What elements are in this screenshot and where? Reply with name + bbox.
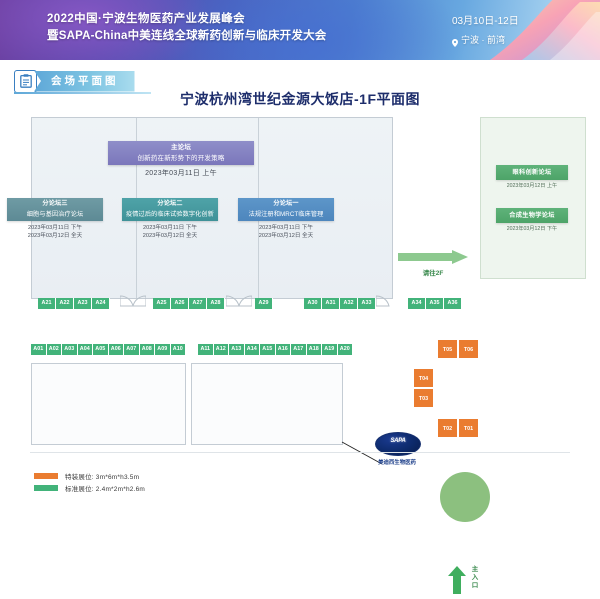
arrow-up-icon — [448, 566, 466, 594]
floorplan-canvas: 主论坛 创新药在新形势下的开发策略 2023年03月11日 上午 分论坛三 细胞… — [0, 110, 600, 505]
booth-A02[interactable]: A02 — [47, 344, 63, 355]
entrance-label: 主入口 — [470, 566, 480, 590]
booth-A19[interactable]: A19 — [322, 344, 338, 355]
booth-A24[interactable]: A24 — [92, 298, 110, 309]
sub-forum-2-subtitle: 疫情过后的临床试验数字化创新 — [122, 210, 218, 221]
conference-title-line1: 2022中国·宁波生物医药产业发展峰会 — [47, 11, 326, 28]
booth-A10[interactable]: A10 — [171, 344, 187, 355]
sub-forum-1-bar: 分论坛一 法规注册和MRCT临床管理 — [238, 198, 334, 221]
exhibitor-logo-caption: 美迪西生物医药 — [364, 458, 430, 466]
sub-forum-3-date2: 2023年03月12日 全天 — [7, 232, 103, 240]
booth-A34[interactable]: A34 — [408, 298, 426, 309]
lower-hall-left — [31, 363, 186, 445]
booth-A25[interactable]: A25 — [153, 298, 171, 309]
sub-forum-2-dates: 2023年03月11日 下午 2023年03月12日 全天 — [122, 224, 218, 240]
booth-A28[interactable]: A28 — [207, 298, 225, 309]
booth-A22[interactable]: A22 — [56, 298, 74, 309]
conference-location: 宁波 · 前湾 — [452, 31, 519, 50]
central-round-area — [440, 472, 490, 522]
sub-forum-3-title: 分论坛三 — [7, 199, 103, 210]
booth-A26[interactable]: A26 — [171, 298, 189, 309]
booth-A01[interactable]: A01 — [31, 344, 47, 355]
map-pin-icon — [452, 35, 458, 43]
booth-A14[interactable]: A14 — [245, 344, 261, 355]
legend-swatch-special — [34, 473, 58, 479]
booth-A29[interactable]: A29 — [255, 298, 273, 309]
legend-swatch-standard — [34, 485, 58, 491]
green-forum-2-title: 合成生物学论坛 — [496, 208, 568, 223]
lower-hall-right — [191, 363, 343, 445]
booth-A21[interactable]: A21 — [38, 298, 56, 309]
sub-forum-3-dates: 2023年03月11日 下午 2023年03月12日 全天 — [7, 224, 103, 240]
sub-forum-3-subtitle: 细胞与基因治疗论坛 — [7, 210, 103, 221]
conference-meta: 03月10日-12日 宁波 · 前湾 — [452, 12, 519, 50]
exhibitor-logo-text: SAPA — [376, 438, 420, 444]
sub-forum-1[interactable]: 分论坛一 法规注册和MRCT临床管理 2023年03月11日 下午 2023年0… — [238, 198, 334, 240]
sub-forum-2-title: 分论坛二 — [122, 199, 218, 210]
booth-A12[interactable]: A12 — [214, 344, 230, 355]
sub-forum-2-date1: 2023年03月11日 下午 — [122, 224, 218, 232]
sub-forum-2-bar: 分论坛二 疫情过后的临床试验数字化创新 — [122, 198, 218, 221]
sub-forum-2[interactable]: 分论坛二 疫情过后的临床试验数字化创新 2023年03月11日 下午 2023年… — [122, 198, 218, 240]
booth-A27[interactable]: A27 — [189, 298, 207, 309]
sub-forum-3-bar: 分论坛三 细胞与基因治疗论坛 — [7, 198, 103, 221]
booth-A20[interactable]: A20 — [338, 344, 354, 355]
legend: 特装展位: 3m*6m*h3.5m 标准展位: 2.4m*2m*h2.6m — [34, 470, 145, 494]
booth-A23[interactable]: A23 — [74, 298, 92, 309]
header-banner: 2022中国·宁波生物医药产业发展峰会 暨SAPA-China中美连线全球新药创… — [0, 0, 600, 60]
booth-A13[interactable]: A13 — [229, 344, 245, 355]
main-forum-date: 2023年03月11日 上午 — [108, 168, 254, 178]
sub-forum-1-subtitle: 法规注册和MRCT临床管理 — [238, 210, 334, 221]
arrow-right-icon — [398, 250, 468, 264]
conference-title: 2022中国·宁波生物医药产业发展峰会 暨SAPA-China中美连线全球新药创… — [47, 11, 326, 45]
booth-A32[interactable]: A32 — [340, 298, 358, 309]
green-forum-1-title: 眼科创新论坛 — [496, 165, 568, 180]
booth-A03[interactable]: A03 — [62, 344, 78, 355]
conference-date: 03月10日-12日 — [452, 12, 519, 31]
booth-T01[interactable]: T01 — [458, 418, 479, 438]
booth-A07[interactable]: A07 — [124, 344, 140, 355]
conference-location-text: 宁波 · 前湾 — [461, 35, 505, 45]
green-forum-1[interactable]: 眼科创新论坛 2023年03月12日 上午 — [496, 165, 568, 189]
door-marker — [376, 294, 392, 312]
green-forum-2[interactable]: 合成生物学论坛 2023年03月12日 下午 — [496, 208, 568, 232]
sub-forum-2-date2: 2023年03月12日 全天 — [122, 232, 218, 240]
main-forum-subtitle: 创新药在新形势下的开发策略 — [108, 153, 254, 164]
booth-A17[interactable]: A17 — [291, 344, 307, 355]
door-marker — [226, 294, 252, 312]
door-marker — [120, 294, 146, 312]
sub-forum-1-dates: 2023年03月11日 下午 2023年03月12日 全天 — [238, 224, 334, 240]
booth-A16[interactable]: A16 — [276, 344, 292, 355]
booth-T06[interactable]: T06 — [458, 339, 479, 359]
legend-label-standard: 标准展位: 2.4m*2m*h2.6m — [65, 483, 145, 493]
page-title: 宁波杭州湾世纪金源大饭店-1F平面图 — [0, 89, 600, 109]
booth-A08[interactable]: A08 — [140, 344, 156, 355]
sub-forum-1-date2: 2023年03月12日 全天 — [238, 232, 334, 240]
booth-T05[interactable]: T05 — [437, 339, 458, 359]
booth-A36[interactable]: A36 — [444, 298, 462, 309]
sub-forum-1-title: 分论坛一 — [238, 199, 334, 210]
main-forum-banner[interactable]: 主论坛 创新药在新形势下的开发策略 — [108, 141, 254, 165]
right-hall-outline — [480, 117, 586, 279]
booth-A04[interactable]: A04 — [78, 344, 94, 355]
booth-A05[interactable]: A05 — [93, 344, 109, 355]
to-2f-label: 请往2F — [398, 267, 468, 277]
booth-A31[interactable]: A31 — [322, 298, 340, 309]
booth-A18[interactable]: A18 — [307, 344, 323, 355]
main-forum-title: 主论坛 — [108, 142, 254, 153]
green-forum-1-date: 2023年03月12日 上午 — [496, 182, 568, 189]
booth-A11[interactable]: A11 — [198, 344, 214, 355]
booth-A09[interactable]: A09 — [155, 344, 171, 355]
legend-separator — [30, 452, 570, 453]
booth-T03[interactable]: T03 — [413, 388, 434, 408]
legend-label-special: 特装展位: 3m*6m*h3.5m — [65, 471, 139, 481]
booth-A35[interactable]: A35 — [426, 298, 444, 309]
booth-A30[interactable]: A30 — [304, 298, 322, 309]
legend-item-standard: 标准展位: 2.4m*2m*h2.6m — [34, 482, 145, 494]
booth-T02[interactable]: T02 — [437, 418, 458, 438]
green-forum-2-date: 2023年03月12日 下午 — [496, 225, 568, 232]
conference-title-line2: 暨SAPA-China中美连线全球新药创新与临床开发大会 — [47, 28, 326, 45]
booth-A15[interactable]: A15 — [260, 344, 276, 355]
booth-A06[interactable]: A06 — [109, 344, 125, 355]
booth-T04[interactable]: T04 — [413, 368, 434, 388]
sub-forum-1-date1: 2023年03月11日 下午 — [238, 224, 334, 232]
legend-item-special: 特装展位: 3m*6m*h3.5m — [34, 470, 145, 482]
sub-forum-3-date1: 2023年03月11日 下午 — [7, 224, 103, 232]
sub-forum-3[interactable]: 分论坛三 细胞与基因治疗论坛 2023年03月11日 下午 2023年03月12… — [7, 198, 103, 240]
booth-A33[interactable]: A33 — [358, 298, 376, 309]
